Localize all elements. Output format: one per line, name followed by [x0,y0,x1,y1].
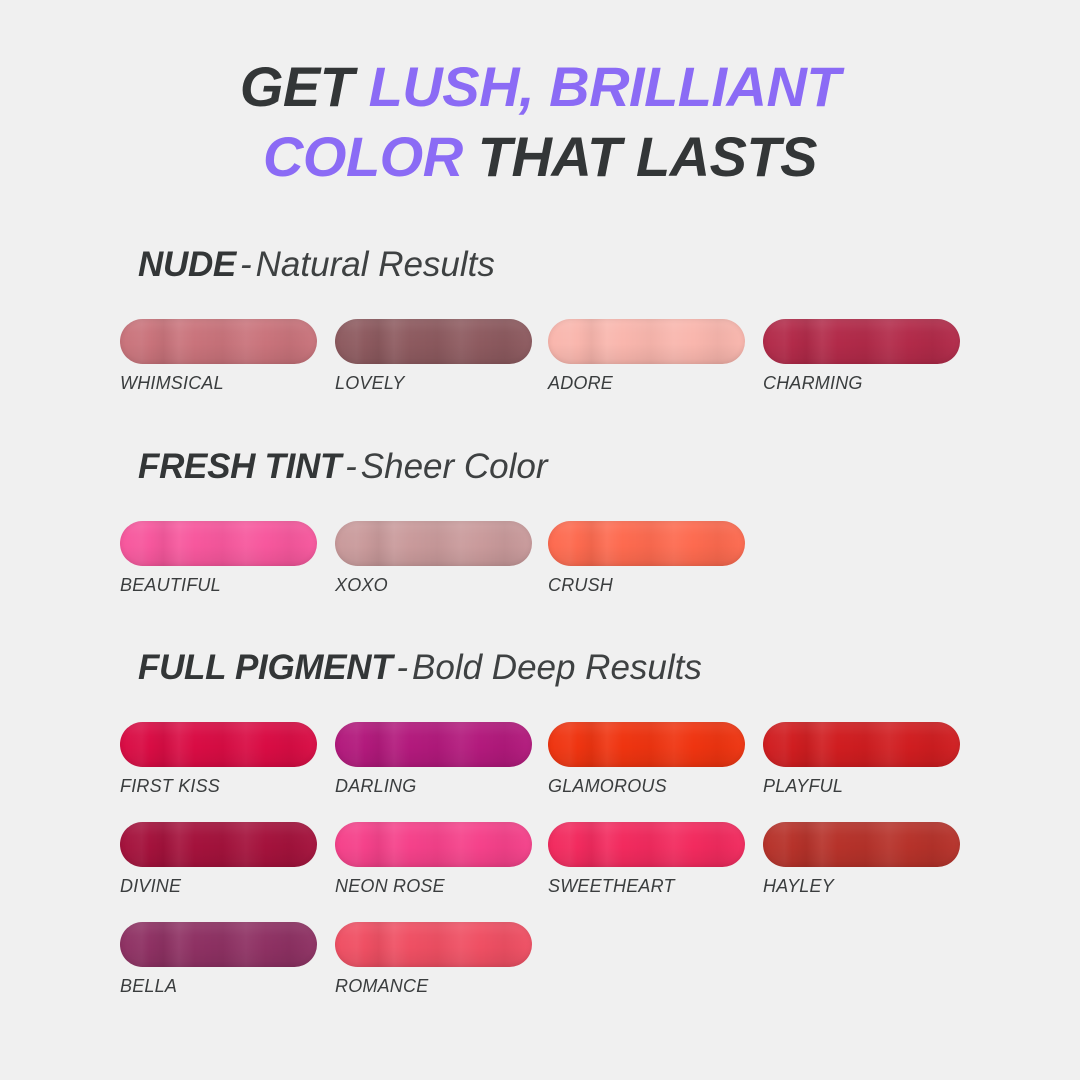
swatch-cell-playful[interactable]: PLAYFUL [763,722,960,797]
swatch-sheen [763,822,960,867]
swatch-label: CRUSH [548,575,745,596]
section-dash: - [341,447,361,486]
swatch-edge [335,822,532,867]
swatch-color-beautiful[interactable] [120,521,317,566]
swatch-label: GLAMOROUS [548,776,745,797]
swatch-texture [548,521,745,566]
swatch-label: DIVINE [120,876,317,897]
section-full-pigment: FULL PIGMENT-Bold Deep Results FIRST KIS… [0,648,1080,1022]
section-description: Bold Deep Results [412,648,702,687]
swatch-texture [548,319,745,364]
swatch-label: ADORE [548,373,745,394]
swatch-texture [120,319,317,364]
swatch-sheen [548,319,745,364]
swatch-label: DARLING [335,776,532,797]
swatch-row: DIVINE NEON ROSE SWEETHEART HAYLEY [120,822,1060,922]
swatch-color-lovely[interactable] [335,319,532,364]
swatch-sheen [548,822,745,867]
section-dash: - [392,648,412,687]
section-header-full-pigment: FULL PIGMENT-Bold Deep Results [138,648,1080,688]
swatch-edge [120,319,317,364]
swatch-label: PLAYFUL [763,776,960,797]
swatch-texture [335,822,532,867]
swatch-edge [335,722,532,767]
swatch-color-charming[interactable] [763,319,960,364]
swatch-texture [763,822,960,867]
swatch-sheen [120,822,317,867]
swatch-sheen [120,521,317,566]
swatch-label: ROMANCE [335,976,532,997]
swatch-sheen [548,722,745,767]
section-description: Natural Results [256,245,495,284]
swatch-cell-crush[interactable]: CRUSH [548,521,745,596]
swatch-edge [548,822,745,867]
swatch-sheen [335,722,532,767]
swatch-texture [548,822,745,867]
swatch-color-divine[interactable] [120,822,317,867]
swatch-texture [335,722,532,767]
swatch-sheen [763,319,960,364]
shade-chart-page: GET LUSH, BRILLIANT COLOR THAT LASTS NUD… [0,0,1080,1080]
swatch-edge [548,521,745,566]
swatch-sheen [548,521,745,566]
swatch-edge [763,319,960,364]
headline-line-2: COLOR THAT LASTS [0,122,1080,192]
swatch-color-glamorous[interactable] [548,722,745,767]
swatch-color-darling[interactable] [335,722,532,767]
swatch-row: BEAUTIFUL XOXO CRUSH [120,521,1060,621]
section-name: FRESH TINT [138,447,341,486]
swatch-edge [335,521,532,566]
swatch-edge [120,722,317,767]
swatch-cell-first-kiss[interactable]: FIRST KISS [120,722,317,797]
swatch-edge [548,319,745,364]
swatch-color-crush[interactable] [548,521,745,566]
swatch-cell-bella[interactable]: BELLA [120,922,317,997]
swatch-color-bella[interactable] [120,922,317,967]
swatch-texture [120,822,317,867]
swatch-edge [335,922,532,967]
swatch-edge [763,822,960,867]
swatch-edge [335,319,532,364]
swatch-cell-divine[interactable]: DIVINE [120,822,317,897]
swatch-edge [120,822,317,867]
swatch-texture [120,922,317,967]
swatch-label: HAYLEY [763,876,960,897]
swatch-cell-sweetheart[interactable]: SWEETHEART [548,822,745,897]
swatch-edge [763,722,960,767]
swatch-sheen [120,319,317,364]
headline-that-lasts: THAT LASTS [463,125,817,188]
swatch-row: WHIMSICAL LOVELY ADORE CHARMING [120,319,1060,419]
headline-get: GET [240,55,369,118]
swatch-color-hayley[interactable] [763,822,960,867]
section-fresh-tint: FRESH TINT-Sheer Color BEAUTIFUL XOXO CR… [0,447,1080,621]
swatch-texture [763,722,960,767]
swatch-texture [120,722,317,767]
swatch-cell-xoxo[interactable]: XOXO [335,521,532,596]
section-header-fresh-tint: FRESH TINT-Sheer Color [138,447,1080,487]
headline-color: COLOR [263,125,463,188]
swatch-cell-charming[interactable]: CHARMING [763,319,960,394]
section-header-nude: NUDE-Natural Results [138,245,1080,285]
swatch-color-neon-rose[interactable] [335,822,532,867]
swatch-sheen [120,722,317,767]
swatch-edge [120,521,317,566]
swatch-label: CHARMING [763,373,960,394]
swatch-texture [335,521,532,566]
swatch-sheen [120,922,317,967]
section-description: Sheer Color [361,447,548,486]
section-nude: NUDE-Natural Results WHIMSICAL LOVELY AD… [0,245,1080,419]
swatch-row: FIRST KISS DARLING GLAMOROUS PLAYFUL [120,722,1060,822]
swatch-cell-whimsical[interactable]: WHIMSICAL [120,319,317,394]
swatch-label: FIRST KISS [120,776,317,797]
swatch-color-first-kiss[interactable] [120,722,317,767]
section-name: NUDE [138,245,236,284]
swatch-sheen [335,319,532,364]
swatch-label: BEAUTIFUL [120,575,317,596]
swatch-cell-lovely[interactable]: LOVELY [335,319,532,394]
swatch-label: XOXO [335,575,532,596]
swatch-cell-neon-rose[interactable]: NEON ROSE [335,822,532,897]
section-dash: - [236,245,256,284]
swatch-sheen [763,722,960,767]
swatch-cell-hayley[interactable]: HAYLEY [763,822,960,897]
swatch-sheen [335,922,532,967]
swatch-sheen [335,521,532,566]
swatch-texture [335,922,532,967]
swatch-label: SWEETHEART [548,876,745,897]
swatch-cell-romance[interactable]: ROMANCE [335,922,532,997]
swatch-color-whimsical[interactable] [120,319,317,364]
swatch-row: BELLA ROMANCE [120,922,1060,1022]
swatch-texture [120,521,317,566]
swatch-edge [120,922,317,967]
swatch-texture [763,319,960,364]
swatch-edge [548,722,745,767]
swatch-cell-glamorous[interactable]: GLAMOROUS [548,722,745,797]
headline-line-1: GET LUSH, BRILLIANT [0,52,1080,122]
swatch-color-playful[interactable] [763,722,960,767]
swatch-sheen [335,822,532,867]
swatch-color-romance[interactable] [335,922,532,967]
swatch-color-adore[interactable] [548,319,745,364]
swatch-label: WHIMSICAL [120,373,317,394]
swatch-cell-adore[interactable]: ADORE [548,319,745,394]
swatch-label: LOVELY [335,373,532,394]
swatch-cell-beautiful[interactable]: BEAUTIFUL [120,521,317,596]
swatch-color-sweetheart[interactable] [548,822,745,867]
swatch-color-xoxo[interactable] [335,521,532,566]
section-name: FULL PIGMENT [138,648,392,687]
page-title: GET LUSH, BRILLIANT COLOR THAT LASTS [0,52,1080,192]
swatch-texture [335,319,532,364]
swatch-texture [548,722,745,767]
headline-lush-brilliant: LUSH, BRILLIANT [369,55,841,118]
swatch-label: NEON ROSE [335,876,532,897]
swatch-cell-darling[interactable]: DARLING [335,722,532,797]
swatch-label: BELLA [120,976,317,997]
